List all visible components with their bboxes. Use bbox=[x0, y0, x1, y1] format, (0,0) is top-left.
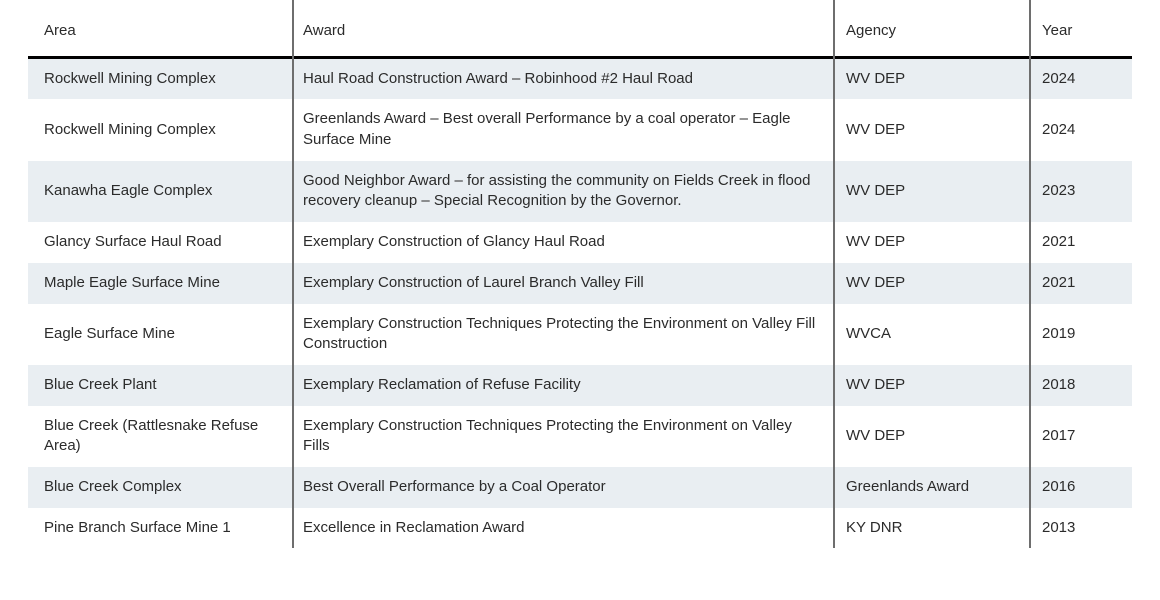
cell-text-year: 2017 bbox=[1042, 426, 1118, 447]
cell-text-area: Kanawha Eagle Complex bbox=[44, 181, 278, 202]
cell-agency: WV DEP bbox=[833, 161, 1029, 222]
cell-text-award: Exemplary Reclamation of Refuse Facility bbox=[303, 375, 819, 396]
cell-text-year: 2016 bbox=[1042, 477, 1118, 498]
cell-area: Blue Creek (Rattlesnake Refuse Area) bbox=[28, 406, 292, 467]
table-body: Rockwell Mining ComplexHaul Road Constru… bbox=[28, 57, 1132, 548]
cell-text-agency: WV DEP bbox=[846, 426, 1015, 447]
cell-text-award: Exemplary Construction Techniques Protec… bbox=[303, 416, 819, 457]
table-row[interactable]: Rockwell Mining ComplexGreenlands Award … bbox=[28, 99, 1132, 160]
cell-year: 2013 bbox=[1029, 508, 1132, 549]
cell-area: Rockwell Mining Complex bbox=[28, 99, 292, 160]
cell-text-year: 2021 bbox=[1042, 273, 1118, 294]
cell-text-area: Blue Creek Plant bbox=[44, 375, 278, 396]
cell-text-award: Exemplary Construction of Glancy Haul Ro… bbox=[303, 232, 819, 253]
cell-text-award: Excellence in Reclamation Award bbox=[303, 518, 819, 539]
column-divider-area-award bbox=[292, 0, 294, 548]
cell-text-year: 2023 bbox=[1042, 181, 1118, 202]
cell-agency: WV DEP bbox=[833, 263, 1029, 304]
cell-text-agency: WV DEP bbox=[846, 273, 1015, 294]
cell-agency: KY DNR bbox=[833, 508, 1029, 549]
cell-text-agency: WV DEP bbox=[846, 69, 1015, 90]
cell-text-agency: WV DEP bbox=[846, 181, 1015, 202]
cell-text-agency: WV DEP bbox=[846, 120, 1015, 141]
cell-text-year: 2024 bbox=[1042, 69, 1118, 90]
cell-year: 2024 bbox=[1029, 99, 1132, 160]
cell-award: Good Neighbor Award – for assisting the … bbox=[292, 161, 833, 222]
header-row: Area Award Agency Year bbox=[28, 13, 1132, 57]
table-row[interactable]: Pine Branch Surface Mine 1Excellence in … bbox=[28, 508, 1132, 549]
cell-text-award: Exemplary Construction Techniques Protec… bbox=[303, 314, 819, 355]
cell-text-area: Maple Eagle Surface Mine bbox=[44, 273, 278, 294]
table-row[interactable]: Rockwell Mining ComplexHaul Road Constru… bbox=[28, 57, 1132, 99]
cell-award: Exemplary Construction of Laurel Branch … bbox=[292, 263, 833, 304]
cell-year: 2016 bbox=[1029, 467, 1132, 508]
cell-year: 2021 bbox=[1029, 263, 1132, 304]
column-divider-award-agency bbox=[833, 0, 835, 548]
cell-year: 2021 bbox=[1029, 222, 1132, 263]
cell-text-year: 2021 bbox=[1042, 232, 1118, 253]
cell-award: Excellence in Reclamation Award bbox=[292, 508, 833, 549]
cell-text-agency: Greenlands Award bbox=[846, 477, 1015, 498]
awards-table: Area Award Agency Year Rockwell Mining C… bbox=[28, 13, 1132, 548]
cell-text-award: Good Neighbor Award – for assisting the … bbox=[303, 171, 819, 212]
column-divider-agency-year bbox=[1029, 0, 1031, 548]
cell-text-agency: WV DEP bbox=[846, 232, 1015, 253]
cell-area: Rockwell Mining Complex bbox=[28, 57, 292, 99]
cell-text-agency: WVCA bbox=[846, 324, 1015, 345]
cell-agency: WV DEP bbox=[833, 406, 1029, 467]
cell-award: Exemplary Construction Techniques Protec… bbox=[292, 304, 833, 365]
cell-text-year: 2013 bbox=[1042, 518, 1118, 539]
table-row[interactable]: Kanawha Eagle ComplexGood Neighbor Award… bbox=[28, 161, 1132, 222]
cell-year: 2018 bbox=[1029, 365, 1132, 406]
column-header-agency[interactable]: Agency bbox=[833, 13, 1029, 57]
table-header: Area Award Agency Year bbox=[28, 13, 1132, 57]
cell-area: Maple Eagle Surface Mine bbox=[28, 263, 292, 304]
cell-text-year: 2024 bbox=[1042, 120, 1118, 141]
table-row[interactable]: Blue Creek ComplexBest Overall Performan… bbox=[28, 467, 1132, 508]
column-header-year[interactable]: Year bbox=[1029, 13, 1132, 57]
cell-text-agency: WV DEP bbox=[846, 375, 1015, 396]
cell-area: Kanawha Eagle Complex bbox=[28, 161, 292, 222]
cell-year: 2024 bbox=[1029, 57, 1132, 99]
cell-text-area: Blue Creek (Rattlesnake Refuse Area) bbox=[44, 416, 278, 457]
cell-text-agency: KY DNR bbox=[846, 518, 1015, 539]
cell-text-area: Glancy Surface Haul Road bbox=[44, 232, 278, 253]
cell-text-award: Exemplary Construction of Laurel Branch … bbox=[303, 273, 819, 294]
cell-year: 2023 bbox=[1029, 161, 1132, 222]
cell-area: Pine Branch Surface Mine 1 bbox=[28, 508, 292, 549]
cell-text-area: Rockwell Mining Complex bbox=[44, 120, 278, 141]
cell-text-area: Eagle Surface Mine bbox=[44, 324, 278, 345]
cell-agency: WV DEP bbox=[833, 57, 1029, 99]
cell-agency: Greenlands Award bbox=[833, 467, 1029, 508]
cell-text-area: Pine Branch Surface Mine 1 bbox=[44, 518, 278, 539]
cell-text-award: Best Overall Performance by a Coal Opera… bbox=[303, 477, 819, 498]
cell-text-year: 2018 bbox=[1042, 375, 1118, 396]
cell-award: Greenlands Award – Best overall Performa… bbox=[292, 99, 833, 160]
cell-agency: WV DEP bbox=[833, 222, 1029, 263]
table-row[interactable]: Eagle Surface MineExemplary Construction… bbox=[28, 304, 1132, 365]
column-header-award[interactable]: Award bbox=[292, 13, 833, 57]
cell-agency: WV DEP bbox=[833, 99, 1029, 160]
cell-text-award: Greenlands Award – Best overall Performa… bbox=[303, 109, 819, 150]
table-row[interactable]: Maple Eagle Surface MineExemplary Constr… bbox=[28, 263, 1132, 304]
table-row[interactable]: Glancy Surface Haul RoadExemplary Constr… bbox=[28, 222, 1132, 263]
cell-area: Glancy Surface Haul Road bbox=[28, 222, 292, 263]
cell-area: Blue Creek Complex bbox=[28, 467, 292, 508]
cell-award: Exemplary Construction of Glancy Haul Ro… bbox=[292, 222, 833, 263]
cell-year: 2019 bbox=[1029, 304, 1132, 365]
cell-area: Eagle Surface Mine bbox=[28, 304, 292, 365]
cell-agency: WVCA bbox=[833, 304, 1029, 365]
table-row[interactable]: Blue Creek PlantExemplary Reclamation of… bbox=[28, 365, 1132, 406]
cell-award: Exemplary Reclamation of Refuse Facility bbox=[292, 365, 833, 406]
column-header-area[interactable]: Area bbox=[28, 13, 292, 57]
table-row[interactable]: Blue Creek (Rattlesnake Refuse Area)Exem… bbox=[28, 406, 1132, 467]
cell-text-area: Blue Creek Complex bbox=[44, 477, 278, 498]
cell-text-award: Haul Road Construction Award – Robinhood… bbox=[303, 69, 819, 90]
cell-text-year: 2019 bbox=[1042, 324, 1118, 345]
cell-year: 2017 bbox=[1029, 406, 1132, 467]
cell-area: Blue Creek Plant bbox=[28, 365, 292, 406]
cell-agency: WV DEP bbox=[833, 365, 1029, 406]
cell-award: Exemplary Construction Techniques Protec… bbox=[292, 406, 833, 467]
cell-award: Best Overall Performance by a Coal Opera… bbox=[292, 467, 833, 508]
cell-text-area: Rockwell Mining Complex bbox=[44, 69, 278, 90]
awards-table-container: Area Award Agency Year Rockwell Mining C… bbox=[28, 0, 1132, 548]
cell-award: Haul Road Construction Award – Robinhood… bbox=[292, 57, 833, 99]
